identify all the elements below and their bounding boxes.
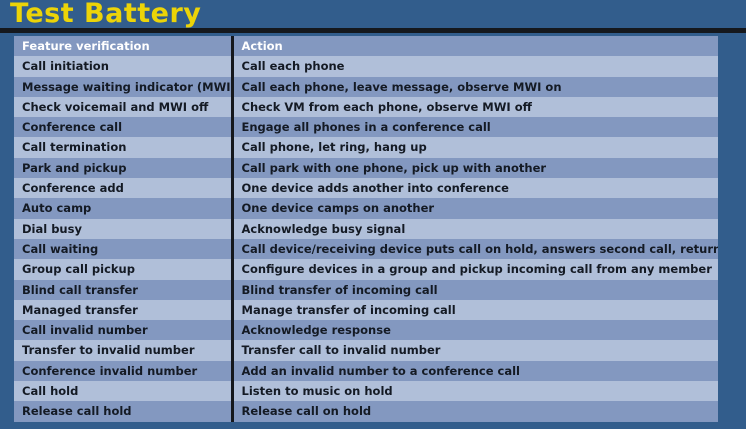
- title-bar: Test Battery: [0, 0, 746, 29]
- cell-feature-verification: Dial busy: [14, 219, 232, 239]
- cell-feature-verification: Call initiation: [14, 56, 232, 76]
- test-battery-table: Feature verification Action Call initiat…: [14, 36, 718, 422]
- cell-feature-verification: Release call hold: [14, 401, 232, 421]
- table-row: Call invalid numberAcknowledge response: [14, 320, 718, 340]
- table-row: Blind call transferBlind transfer of inc…: [14, 280, 718, 300]
- cell-feature-verification: Auto camp: [14, 198, 232, 218]
- table-row: Message waiting indicator (MWI) onCall e…: [14, 77, 718, 97]
- cell-action: Call phone, let ring, hang up: [232, 137, 718, 157]
- cell-action: Call each phone: [232, 56, 718, 76]
- cell-action: Listen to music on hold: [232, 381, 718, 401]
- cell-action: Manage transfer of incoming call: [232, 300, 718, 320]
- cell-action: Engage all phones in a conference call: [232, 117, 718, 137]
- table-row: Call initiationCall each phone: [14, 56, 718, 76]
- table-row: Conference callEngage all phones in a co…: [14, 117, 718, 137]
- cell-action: Acknowledge busy signal: [232, 219, 718, 239]
- cell-feature-verification: Message waiting indicator (MWI) on: [14, 77, 232, 97]
- cell-feature-verification: Call waiting: [14, 239, 232, 259]
- cell-feature-verification: Conference call: [14, 117, 232, 137]
- table-row: Call holdListen to music on hold: [14, 381, 718, 401]
- cell-action: Call device/receiving device puts call o…: [232, 239, 718, 259]
- cell-action: Add an invalid number to a conference ca…: [232, 361, 718, 381]
- table-row: Conference invalid numberAdd an invalid …: [14, 361, 718, 381]
- table-row: Check voicemail and MWI offCheck VM from…: [14, 97, 718, 117]
- table-row: Auto campOne device camps on another: [14, 198, 718, 218]
- column-header-action: Action: [232, 36, 718, 56]
- table-row: Release call holdRelease call on hold: [14, 401, 718, 421]
- table-body: Call initiationCall each phoneMessage wa…: [14, 56, 718, 421]
- title-divider-rule: [0, 28, 746, 33]
- test-battery-table-container: Feature verification Action Call initiat…: [14, 36, 718, 421]
- cell-action: Release call on hold: [232, 401, 718, 421]
- cell-feature-verification: Call invalid number: [14, 320, 232, 340]
- cell-action: Blind transfer of incoming call: [232, 280, 718, 300]
- cell-feature-verification: Group call pickup: [14, 259, 232, 279]
- table-row: Transfer to invalid numberTransfer call …: [14, 340, 718, 360]
- page-title: Test Battery: [10, 0, 201, 29]
- cell-feature-verification: Transfer to invalid number: [14, 340, 232, 360]
- table-header: Feature verification Action: [14, 36, 718, 56]
- table-header-row: Feature verification Action: [14, 36, 718, 56]
- cell-action: Configure devices in a group and pickup …: [232, 259, 718, 279]
- cell-action: One device camps on another: [232, 198, 718, 218]
- cell-feature-verification: Conference invalid number: [14, 361, 232, 381]
- table-row: Managed transferManage transfer of incom…: [14, 300, 718, 320]
- table-row: Conference addOne device adds another in…: [14, 178, 718, 198]
- cell-feature-verification: Blind call transfer: [14, 280, 232, 300]
- cell-feature-verification: Check voicemail and MWI off: [14, 97, 232, 117]
- cell-action: One device adds another into conference: [232, 178, 718, 198]
- cell-feature-verification: Call termination: [14, 137, 232, 157]
- cell-feature-verification: Park and pickup: [14, 158, 232, 178]
- cell-feature-verification: Conference add: [14, 178, 232, 198]
- table-row: Call terminationCall phone, let ring, ha…: [14, 137, 718, 157]
- cell-action: Transfer call to invalid number: [232, 340, 718, 360]
- cell-action: Call park with one phone, pick up with a…: [232, 158, 718, 178]
- table-row: Park and pickupCall park with one phone,…: [14, 158, 718, 178]
- cell-action: Call each phone, leave message, observe …: [232, 77, 718, 97]
- table-row: Group call pickupConfigure devices in a …: [14, 259, 718, 279]
- cell-action: Acknowledge response: [232, 320, 718, 340]
- column-header-feature-verification: Feature verification: [14, 36, 232, 56]
- table-row: Call waitingCall device/receiving device…: [14, 239, 718, 259]
- cell-action: Check VM from each phone, observe MWI of…: [232, 97, 718, 117]
- cell-feature-verification: Call hold: [14, 381, 232, 401]
- cell-feature-verification: Managed transfer: [14, 300, 232, 320]
- table-row: Dial busyAcknowledge busy signal: [14, 219, 718, 239]
